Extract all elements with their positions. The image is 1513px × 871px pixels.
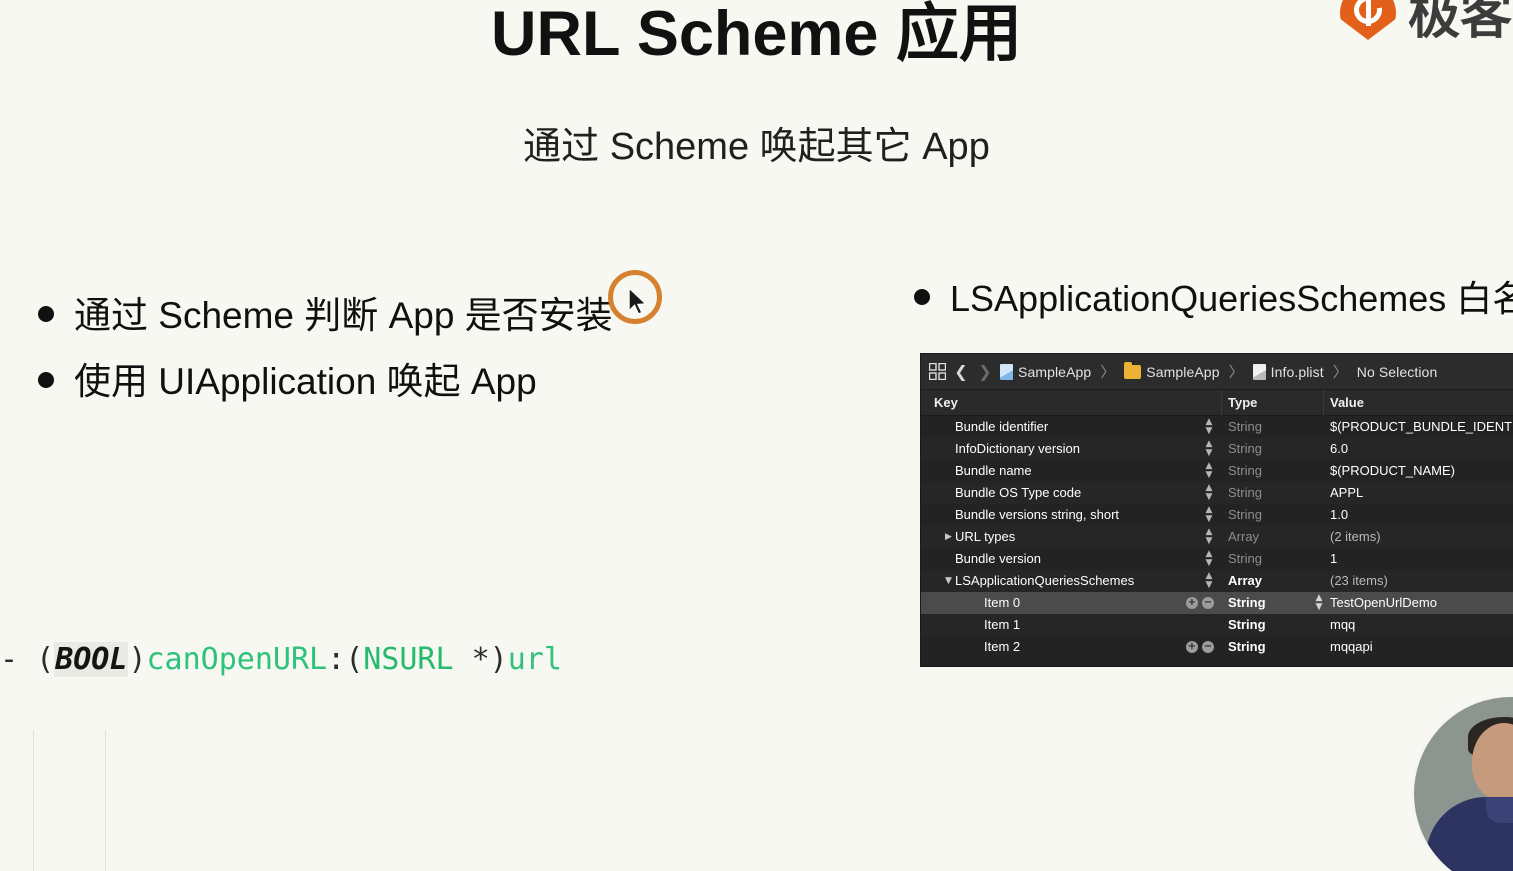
plist-type-cell[interactable]: String (1228, 548, 1262, 570)
white-document-icon (1253, 364, 1266, 380)
code-token-selector: canOpenURL (147, 642, 328, 677)
page-title: URL Scheme 应用 (0, 0, 1513, 72)
chevron-right-icon[interactable]: ❯ (976, 364, 994, 380)
breadcrumb-label: Info.plist (1271, 364, 1324, 380)
breadcrumb-item-file[interactable]: Info.plist (1253, 364, 1324, 380)
plist-type-cell[interactable]: String (1228, 438, 1262, 460)
brand-name: 极客时间 (1408, 0, 1513, 48)
bullet-label: 通过 Scheme 判断 App 是否安装 (74, 292, 613, 340)
breadcrumb-item-project[interactable]: SampleApp (1000, 364, 1091, 380)
type-stepper-icon[interactable]: ▲▼ (1204, 506, 1214, 524)
plist-type-cell[interactable]: String (1228, 504, 1262, 526)
plist-type-cell[interactable]: String (1228, 416, 1262, 438)
chevron-left-icon[interactable]: ❮ (952, 364, 970, 380)
plist-type-cell[interactable]: Array (1228, 526, 1259, 548)
breadcrumb-separator: 〉 (1100, 361, 1115, 382)
type-stepper-icon[interactable]: ▲▼ (1204, 550, 1214, 568)
code-token: ) (128, 642, 146, 677)
bullet-dot-icon (914, 289, 930, 305)
blue-document-icon (1000, 364, 1013, 380)
breadcrumb-item-selection[interactable]: No Selection (1357, 364, 1438, 380)
column-header-value[interactable]: Value (1330, 390, 1364, 416)
plist-key-cell[interactable]: Bundle versions string, short (955, 504, 1119, 526)
code-token-keyword: BOOL (54, 642, 128, 677)
breadcrumb-separator: 〉 (1229, 361, 1244, 382)
code-token: : (327, 642, 345, 677)
plist-key-cell[interactable]: InfoDictionary version (955, 438, 1080, 460)
type-stepper-icon[interactable]: ▲▼ (1204, 440, 1214, 458)
column-header-type[interactable]: Type (1228, 390, 1257, 416)
breadcrumb-label: No Selection (1357, 364, 1438, 380)
code-token: ( (345, 642, 363, 677)
type-stepper-icon[interactable]: ▲▼ (1204, 462, 1214, 480)
plist-key-cell[interactable]: Bundle version (955, 548, 1041, 570)
table-row[interactable]: Bundle identifier▲▼String$(PRODUCT_BUNDL… (921, 416, 1513, 438)
table-row[interactable]: Bundle versions string, short▲▼String1.0 (921, 504, 1513, 526)
type-stepper-icon[interactable]: ▲▼ (1204, 484, 1214, 502)
table-row[interactable]: Bundle version▲▼String1 (921, 548, 1513, 570)
breadcrumb-label: SampleApp (1146, 364, 1219, 380)
grid-icon[interactable] (929, 363, 946, 380)
slide-canvas: URL Scheme 应用 通过 Scheme 唤起其它 App 极客时间 通过… (0, 0, 1513, 871)
code-token-class: NSURL (363, 642, 453, 677)
bullet-item-left-1: 通过 Scheme 判断 App 是否安装 (38, 292, 613, 340)
brand-logo: 极客时间 (1340, 0, 1513, 48)
bullet-dot-icon (38, 372, 54, 388)
bullet-label: 使用 UIApplication 唤起 App (74, 358, 537, 406)
breadcrumb-label: SampleApp (1018, 364, 1091, 380)
plist-key-cell[interactable]: Bundle identifier (955, 416, 1048, 438)
type-stepper-icon[interactable]: ▲▼ (1204, 528, 1214, 546)
bullet-item-right-1: LSApplicationQueriesSchemes 白名单 (914, 275, 1513, 323)
plist-value-cell[interactable]: 6.0 (1330, 438, 1348, 460)
table-row[interactable]: Bundle name▲▼String$(PRODUCT_NAME) (921, 460, 1513, 482)
plist-value-cell[interactable]: 1.0 (1330, 504, 1348, 526)
code-token: - ( (0, 642, 54, 677)
code-line-canopenurl: - (BOOL)canOpenURL:(NSURL *)url (0, 642, 1513, 678)
yellow-folder-icon (1124, 365, 1141, 379)
plist-key-cell[interactable]: URL types (955, 526, 1015, 548)
mouse-pointer-icon (629, 288, 649, 318)
plist-key-cell[interactable]: Bundle name (955, 460, 1032, 482)
plist-value-cell[interactable]: $(PRODUCT_BUNDLE_IDENTIFIER) (1330, 416, 1513, 438)
code-block: - (BOOL)canOpenURL:(NSURL *)url - (void)… (0, 570, 1513, 871)
table-row[interactable]: InfoDictionary version▲▼String6.0 (921, 438, 1513, 460)
disclosure-triangle-icon[interactable]: ▶ (945, 526, 952, 548)
plist-column-headers: Key Type Value (921, 390, 1513, 416)
plist-value-cell[interactable]: 1 (1330, 548, 1337, 570)
plist-value-cell[interactable]: (2 items) (1330, 526, 1381, 548)
breadcrumb-separator: 〉 (1333, 361, 1348, 382)
code-token: *) (454, 642, 508, 677)
presenter-collar (1486, 797, 1513, 823)
plist-type-cell[interactable]: String (1228, 482, 1262, 504)
plist-value-cell[interactable]: APPL (1330, 482, 1363, 504)
page-subtitle: 通过 Scheme 唤起其它 App (0, 122, 1513, 172)
breadcrumb: ❮ ❯ SampleApp 〉 SampleApp 〉 Info.plist 〉… (921, 354, 1513, 390)
plist-value-cell[interactable]: $(PRODUCT_NAME) (1330, 460, 1455, 482)
plist-type-cell[interactable]: String (1228, 460, 1262, 482)
bullet-label: LSApplicationQueriesSchemes 白名单 (950, 275, 1513, 323)
type-stepper-icon[interactable]: ▲▼ (1204, 418, 1214, 436)
code-token-arg: url (508, 642, 562, 677)
plist-key-cell[interactable]: Bundle OS Type code (955, 482, 1081, 504)
bullet-dot-icon (38, 306, 54, 322)
geekbang-pin-icon (1340, 0, 1396, 48)
table-row[interactable]: Bundle OS Type code▲▼StringAPPL (921, 482, 1513, 504)
bullet-item-left-2: 使用 UIApplication 唤起 App (38, 358, 537, 406)
breadcrumb-item-folder[interactable]: SampleApp (1124, 364, 1219, 380)
column-header-key[interactable]: Key (934, 390, 958, 416)
table-row[interactable]: ▶URL types▲▼Array(2 items) (921, 526, 1513, 548)
